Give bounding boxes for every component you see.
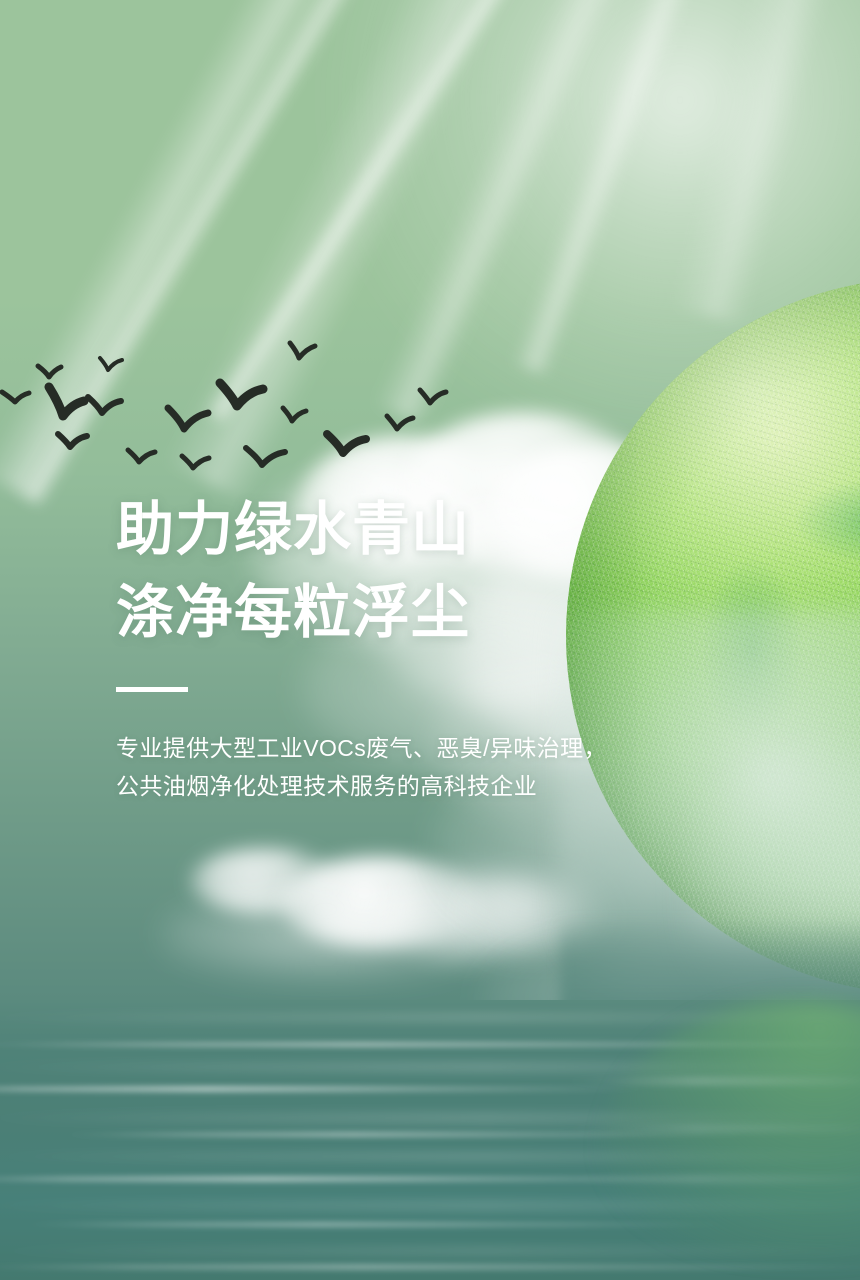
subcopy-block: 专业提供大型工业VOCs废气、恶臭/异味治理， 公共油烟净化处理技术服务的高科技… xyxy=(116,729,676,805)
poster-canvas: 助力绿水青山 涤净每粒浮尘 专业提供大型工业VOCs废气、恶臭/异味治理， 公共… xyxy=(0,0,860,1280)
hero-copy-block: 助力绿水青山 涤净每粒浮尘 专业提供大型工业VOCs废气、恶臭/异味治理， 公共… xyxy=(116,488,676,805)
subcopy-line-1: 专业提供大型工业VOCs废气、恶臭/异味治理， xyxy=(116,729,676,767)
headline-line-2: 涤净每粒浮尘 xyxy=(116,571,676,654)
water-ripple xyxy=(0,1264,860,1270)
headline-divider-rule xyxy=(116,687,188,692)
water-ripple xyxy=(20,1222,740,1227)
headline-line-1: 助力绿水青山 xyxy=(116,488,676,571)
subcopy-line-2: 公共油烟净化处理技术服务的高科技企业 xyxy=(116,767,676,805)
water-ripple xyxy=(0,1086,660,1092)
